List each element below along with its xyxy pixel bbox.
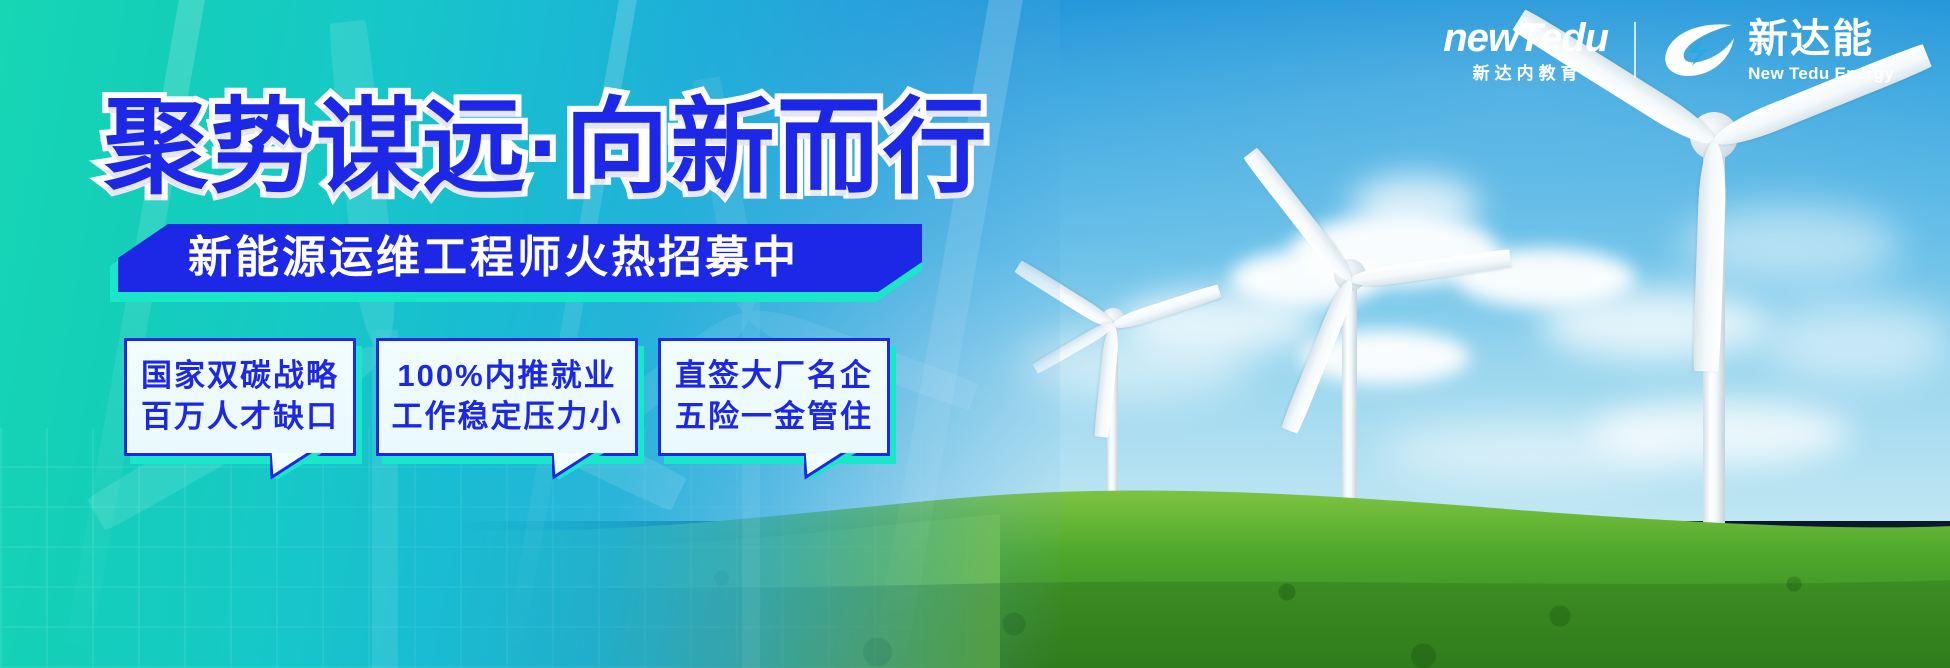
feature-bubble-3[interactable]: 直签大厂名企 五险一金管住: [658, 338, 890, 456]
turbine-blade: [1111, 284, 1222, 333]
leaf-bolt-icon: [1662, 22, 1736, 78]
newtedu-wordmark: newTedu: [1443, 18, 1608, 58]
feature-bubble-list: 国家双碳战略 百万人才缺口 100%内推就业 工作稳定压力小: [124, 338, 890, 456]
page-title: 聚势谋远·向新而行: [104, 96, 989, 200]
bubble-line-2: 百万人才缺口: [141, 401, 339, 434]
bubble-body: 100%内推就业 工作稳定压力小: [376, 338, 638, 456]
energy-brand-cn: 新达能: [1748, 19, 1894, 59]
energy-brand-en: New Tedu Energy: [1748, 65, 1894, 82]
feature-bubble-2[interactable]: 100%内推就业 工作稳定压力小: [376, 338, 638, 456]
turbine-blade: [1349, 249, 1512, 290]
bubble-line-1: 国家双碳战略: [141, 360, 339, 393]
recruitment-banner: newTedu 新达内教育 新达能 New Tedu Energy 聚势谋远·向…: [0, 0, 1950, 668]
bubble-body: 国家双碳战略 百万人才缺口: [124, 338, 356, 456]
logo-bar: newTedu 新达内教育 新达能 New Tedu Energy: [1443, 18, 1894, 82]
ribbon-label: 新能源运维工程师火热招募中: [188, 236, 799, 280]
bubble-line-2: 工作稳定压力小: [392, 401, 623, 434]
bubble-line-1: 直签大厂名企: [675, 360, 873, 393]
ribbon-body: 新能源运维工程师火热招募中: [118, 224, 922, 292]
logo-newtedu[interactable]: newTedu 新达内教育: [1443, 18, 1608, 82]
feature-bubble-1[interactable]: 国家双碳战略 百万人才缺口: [124, 338, 356, 456]
bubble-line-2: 五险一金管住: [675, 401, 873, 434]
bubble-tail-icon: [804, 453, 856, 481]
bubble-body: 直签大厂名企 五险一金管住: [658, 338, 890, 456]
bubble-tail-icon: [270, 453, 322, 481]
logo-newtedu-energy[interactable]: 新达能 New Tedu Energy: [1662, 19, 1894, 82]
logo-divider: [1634, 22, 1636, 78]
subtitle-ribbon: 新能源运维工程师火热招募中: [118, 224, 922, 292]
bubble-tail-icon: [552, 453, 604, 481]
ghost-grid-texture: [0, 428, 1060, 668]
bubble-line-1: 100%内推就业: [397, 360, 616, 393]
newtedu-subtitle-cn: 新达内教育: [1469, 65, 1583, 82]
